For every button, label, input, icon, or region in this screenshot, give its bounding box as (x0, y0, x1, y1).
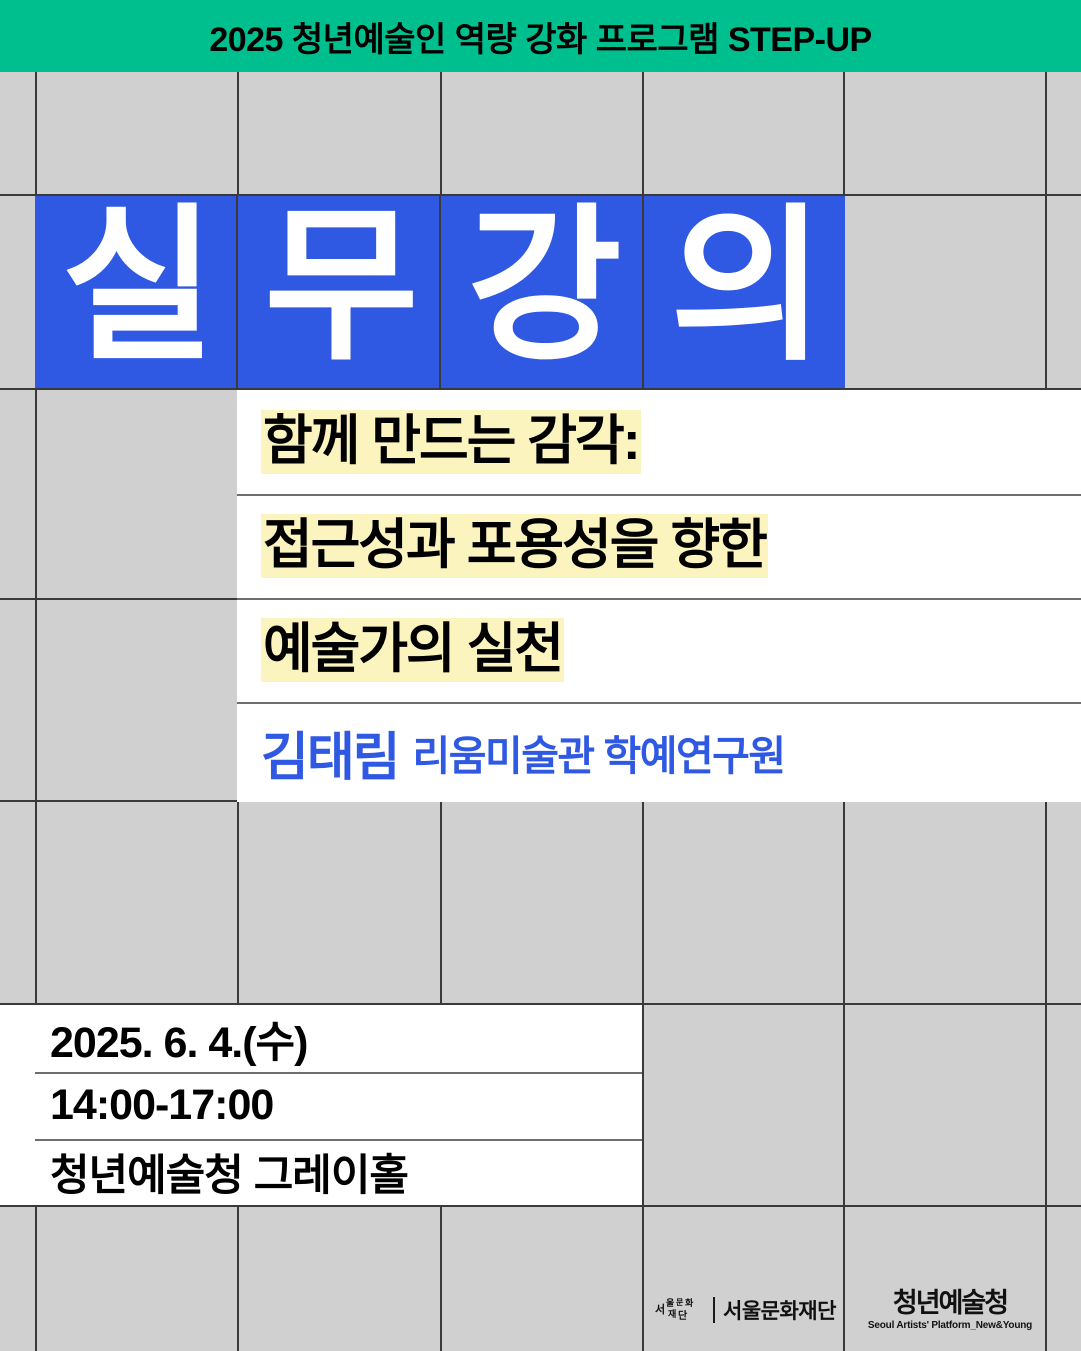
event-date: 2025. 6. 4.(수) (50, 1008, 307, 1070)
main-title-cell-2: 무 (238, 196, 441, 388)
event-time-row: 14:00-17:00 (0, 1072, 642, 1139)
speaker-affiliation: 리움미술관 학예연구원 (413, 722, 785, 782)
subtitle-line: 예술가의 실천 (237, 598, 1081, 702)
header-band: 2025 청년예술인 역량 강화 프로그램 STEP-UP (0, 0, 1081, 72)
logo-seoul-foundation: 서 울 문 화 재 단 서울문화재단 (654, 1293, 836, 1327)
subtitle-text: 예술가의 실천 (261, 618, 564, 682)
svg-text:서: 서 (655, 1302, 665, 1316)
svg-text:울: 울 (666, 1297, 674, 1308)
main-title-char: 무 (264, 202, 413, 370)
event-date-row: 2025. 6. 4.(수) (0, 1005, 642, 1072)
logo-syap-korean-label: 청년예술청 (893, 1289, 1007, 1317)
main-title-cell-1: 실 (35, 196, 238, 388)
subtitle-line: 접근성과 포용성을 향한 (237, 494, 1081, 598)
main-title-char: 실 (61, 202, 210, 370)
event-time: 14:00-17:00 (50, 1081, 273, 1130)
main-title-row: 실 무 강 의 (35, 196, 845, 388)
poster-canvas: 2025 청년예술인 역량 강화 프로그램 STEP-UP 실 무 강 의 함께… (0, 0, 1081, 1351)
speaker-line: 김태림 리움미술관 학예연구원 (237, 702, 1081, 802)
program-title: 2025 청년예술인 역량 강화 프로그램 STEP-UP (209, 12, 871, 61)
event-venue: 청년예술청 그레이홀 (50, 1141, 408, 1203)
grid-hline-6 (0, 1205, 1081, 1207)
svg-text:단: 단 (678, 1309, 688, 1322)
subtitle-text: 접근성과 포용성을 향한 (261, 514, 768, 578)
svg-text:화: 화 (685, 1297, 694, 1308)
speaker-name: 김태림 (261, 715, 399, 790)
logo-seoul-artists-platform: 청년예술청 Seoul Artists' Platform_New&Young (868, 1289, 1032, 1330)
event-venue-row: 청년예술청 그레이홀 (0, 1139, 642, 1205)
main-title-cell-3: 강 (441, 196, 644, 388)
logo-seoul-foundation-label: 서울문화재단 (723, 1295, 836, 1325)
logo-syap-english-label: Seoul Artists' Platform_New&Young (868, 1320, 1032, 1331)
svg-text:문: 문 (676, 1298, 684, 1307)
subtitle-text: 함께 만드는 감각: (261, 410, 641, 474)
main-title-char: 강 (467, 202, 616, 370)
main-title-char: 의 (670, 202, 819, 370)
lecture-info-panel: 함께 만드는 감각: 접근성과 포용성을 향한 예술가의 실천 김태림 리움미술… (237, 390, 1081, 802)
seoul-foundation-mark-icon: 서 울 문 화 재 단 (654, 1293, 706, 1327)
svg-text:재: 재 (668, 1308, 676, 1319)
footer-logos: 서 울 문 화 재 단 서울문화재단 청년예술청 Seoul Artists' … (642, 1275, 1045, 1345)
logo-divider (713, 1297, 715, 1323)
main-title-cell-4: 의 (644, 196, 845, 388)
subtitle-line: 함께 만드는 감각: (237, 390, 1081, 494)
event-details-panel: 2025. 6. 4.(수) 14:00-17:00 청년예술청 그레이홀 (0, 1005, 642, 1205)
